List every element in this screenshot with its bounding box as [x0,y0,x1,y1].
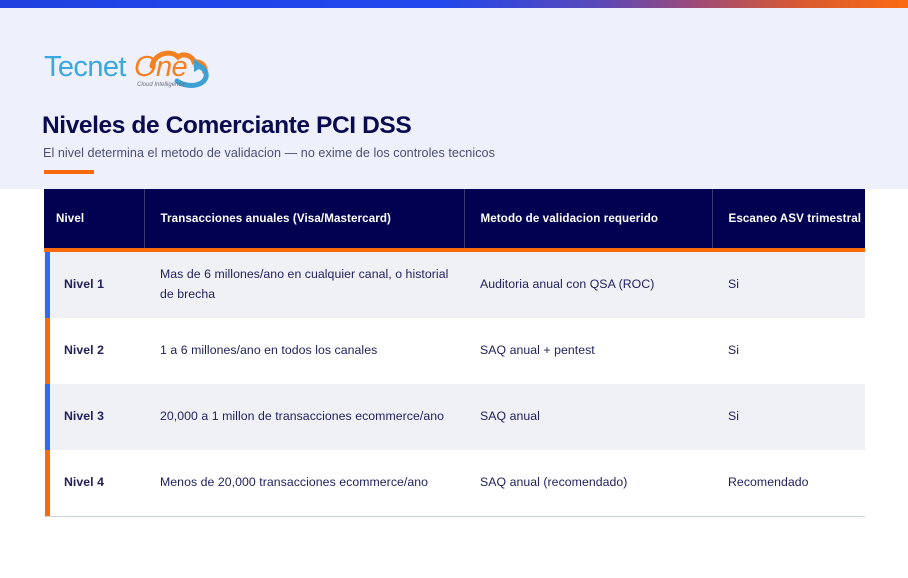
table-row: Nivel 3 20,000 a 1 millon de transaccion… [44,384,865,450]
pci-merchant-levels-table: Nivel Transacciones anuales (Visa/Master… [44,189,865,517]
cell-nivel-label: Nivel 1 [64,277,104,291]
cell-asv: Recomendado [712,450,865,516]
cell-asv: Si [712,252,865,318]
cell-asv: Si [712,318,865,384]
table-row: Nivel 4 Menos de 20,000 transacciones ec… [44,450,865,516]
top-gradient-bar [0,0,908,8]
row-accent-bar [45,252,50,318]
cell-nivel-label: Nivel 2 [64,343,104,357]
table-row: Nivel 1 Mas de 6 millones/ano en cualqui… [44,252,865,318]
cell-nivel: Nivel 3 [44,384,144,450]
cell-nivel-label: Nivel 3 [64,409,104,423]
cell-transacciones: 1 a 6 millones/ano en todos los canales [144,318,464,384]
table-bottom-rule-fill [44,516,865,517]
svg-text:Tecnet: Tecnet [44,51,126,83]
column-header-asv: Escaneo ASV trimestral [712,189,865,248]
cell-nivel-label: Nivel 4 [64,475,104,489]
column-header-nivel: Nivel [44,189,144,248]
table-body: Nivel 1 Mas de 6 millones/ano en cualqui… [44,248,865,517]
cell-transacciones: Menos de 20,000 transacciones ecommerce/… [144,450,464,516]
cell-asv: Si [712,384,865,450]
row-accent-bar [45,318,50,384]
column-header-transacciones: Transacciones anuales (Visa/Mastercard) [144,189,464,248]
cell-nivel: Nivel 4 [44,450,144,516]
row-accent-bar [45,384,50,450]
table-header-row: Nivel Transacciones anuales (Visa/Master… [44,189,865,248]
row-accent-bar [45,450,50,516]
column-header-metodo: Metodo de validacion requerido [464,189,712,248]
hero-band [0,8,908,189]
table-row: Nivel 2 1 a 6 millones/ano en todos los … [44,318,865,384]
cell-transacciones: 20,000 a 1 millon de transacciones ecomm… [144,384,464,450]
tecnetone-logo: Tecnet One Cloud Intelligence [44,44,244,94]
title-accent-underline [44,170,94,174]
page-title: Niveles de Comerciante PCI DSS [42,112,411,140]
table-bottom-rule [44,516,865,517]
cell-metodo: SAQ anual [464,384,712,450]
cell-transacciones: Mas de 6 millones/ano en cualquier canal… [144,252,464,318]
cell-metodo: Auditoria anual con QSA (ROC) [464,252,712,318]
cell-metodo: SAQ anual + pentest [464,318,712,384]
cell-metodo: SAQ anual (recomendado) [464,450,712,516]
svg-text:One: One [134,51,187,83]
cell-nivel: Nivel 2 [44,318,144,384]
svg-text:Cloud Intelligence: Cloud Intelligence [137,82,185,88]
cell-nivel: Nivel 1 [44,252,144,318]
table-header: Nivel Transacciones anuales (Visa/Master… [44,189,865,248]
page-subtitle: El nivel determina el metodo de validaci… [43,146,495,160]
